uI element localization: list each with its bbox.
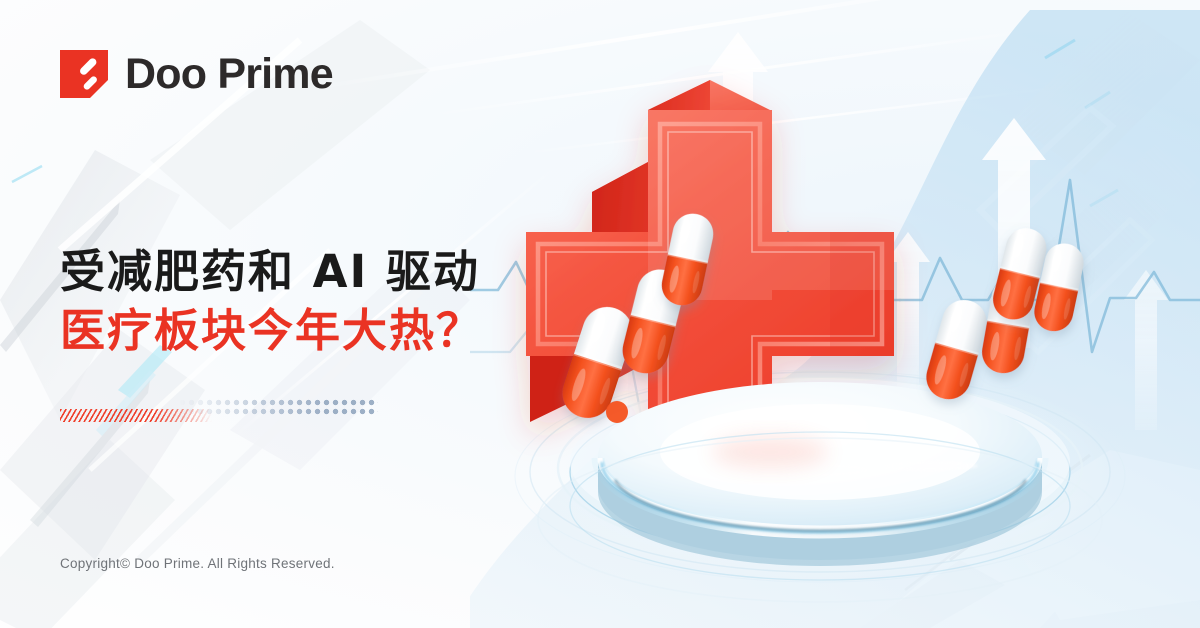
podium-outer-rings bbox=[515, 370, 1125, 582]
bottom-right-facets bbox=[860, 450, 1200, 628]
accent-dot bbox=[606, 401, 628, 423]
podium bbox=[538, 382, 1102, 602]
decorative-bars bbox=[60, 398, 315, 422]
capsule bbox=[556, 301, 639, 425]
capsule bbox=[989, 224, 1051, 324]
capsule-group-left bbox=[556, 210, 717, 424]
light-streaks bbox=[230, 0, 1078, 441]
capsule bbox=[979, 274, 1038, 377]
headline-block: 受减肥药和 AI 驱动 医疗板块今年大热？ bbox=[60, 243, 483, 360]
brand-wordmark: Doo Prime bbox=[125, 53, 333, 96]
capsule bbox=[1031, 240, 1087, 335]
red-diagonal-hatch-bar-icon bbox=[60, 409, 212, 422]
headline-line-1: 受减肥药和 AI 驱动 bbox=[60, 243, 483, 302]
upward-arrows bbox=[590, 32, 1168, 430]
right-chevron-facets bbox=[980, 10, 1200, 352]
cyan-accent-slivers bbox=[12, 40, 1118, 436]
headline-line-2: 医疗板块今年大热？ bbox=[60, 302, 483, 361]
brand-logo[interactable]: Doo Prime bbox=[60, 50, 333, 98]
capsule-group-right bbox=[921, 224, 1087, 404]
ecg-heartbeat-line bbox=[470, 180, 1200, 386]
area-chart-mountain bbox=[470, 10, 1200, 628]
copyright-text: Copyright© Doo Prime. All Rights Reserve… bbox=[60, 556, 335, 571]
ecg-heartbeat-line-secondary bbox=[470, 250, 790, 442]
doo-prime-logo-mark-icon bbox=[60, 50, 108, 98]
capsule bbox=[618, 265, 688, 379]
capsule bbox=[921, 295, 992, 405]
banner-root: Doo Prime 受减肥药和 AI 驱动 医疗板块今年大热？ Copyrigh… bbox=[0, 0, 1200, 628]
hero-illustration bbox=[470, 0, 1200, 628]
capsule bbox=[658, 210, 717, 309]
podium-glass-base bbox=[570, 378, 1070, 558]
red-3d-medical-cross bbox=[526, 80, 894, 500]
podium-halo bbox=[520, 358, 1120, 582]
